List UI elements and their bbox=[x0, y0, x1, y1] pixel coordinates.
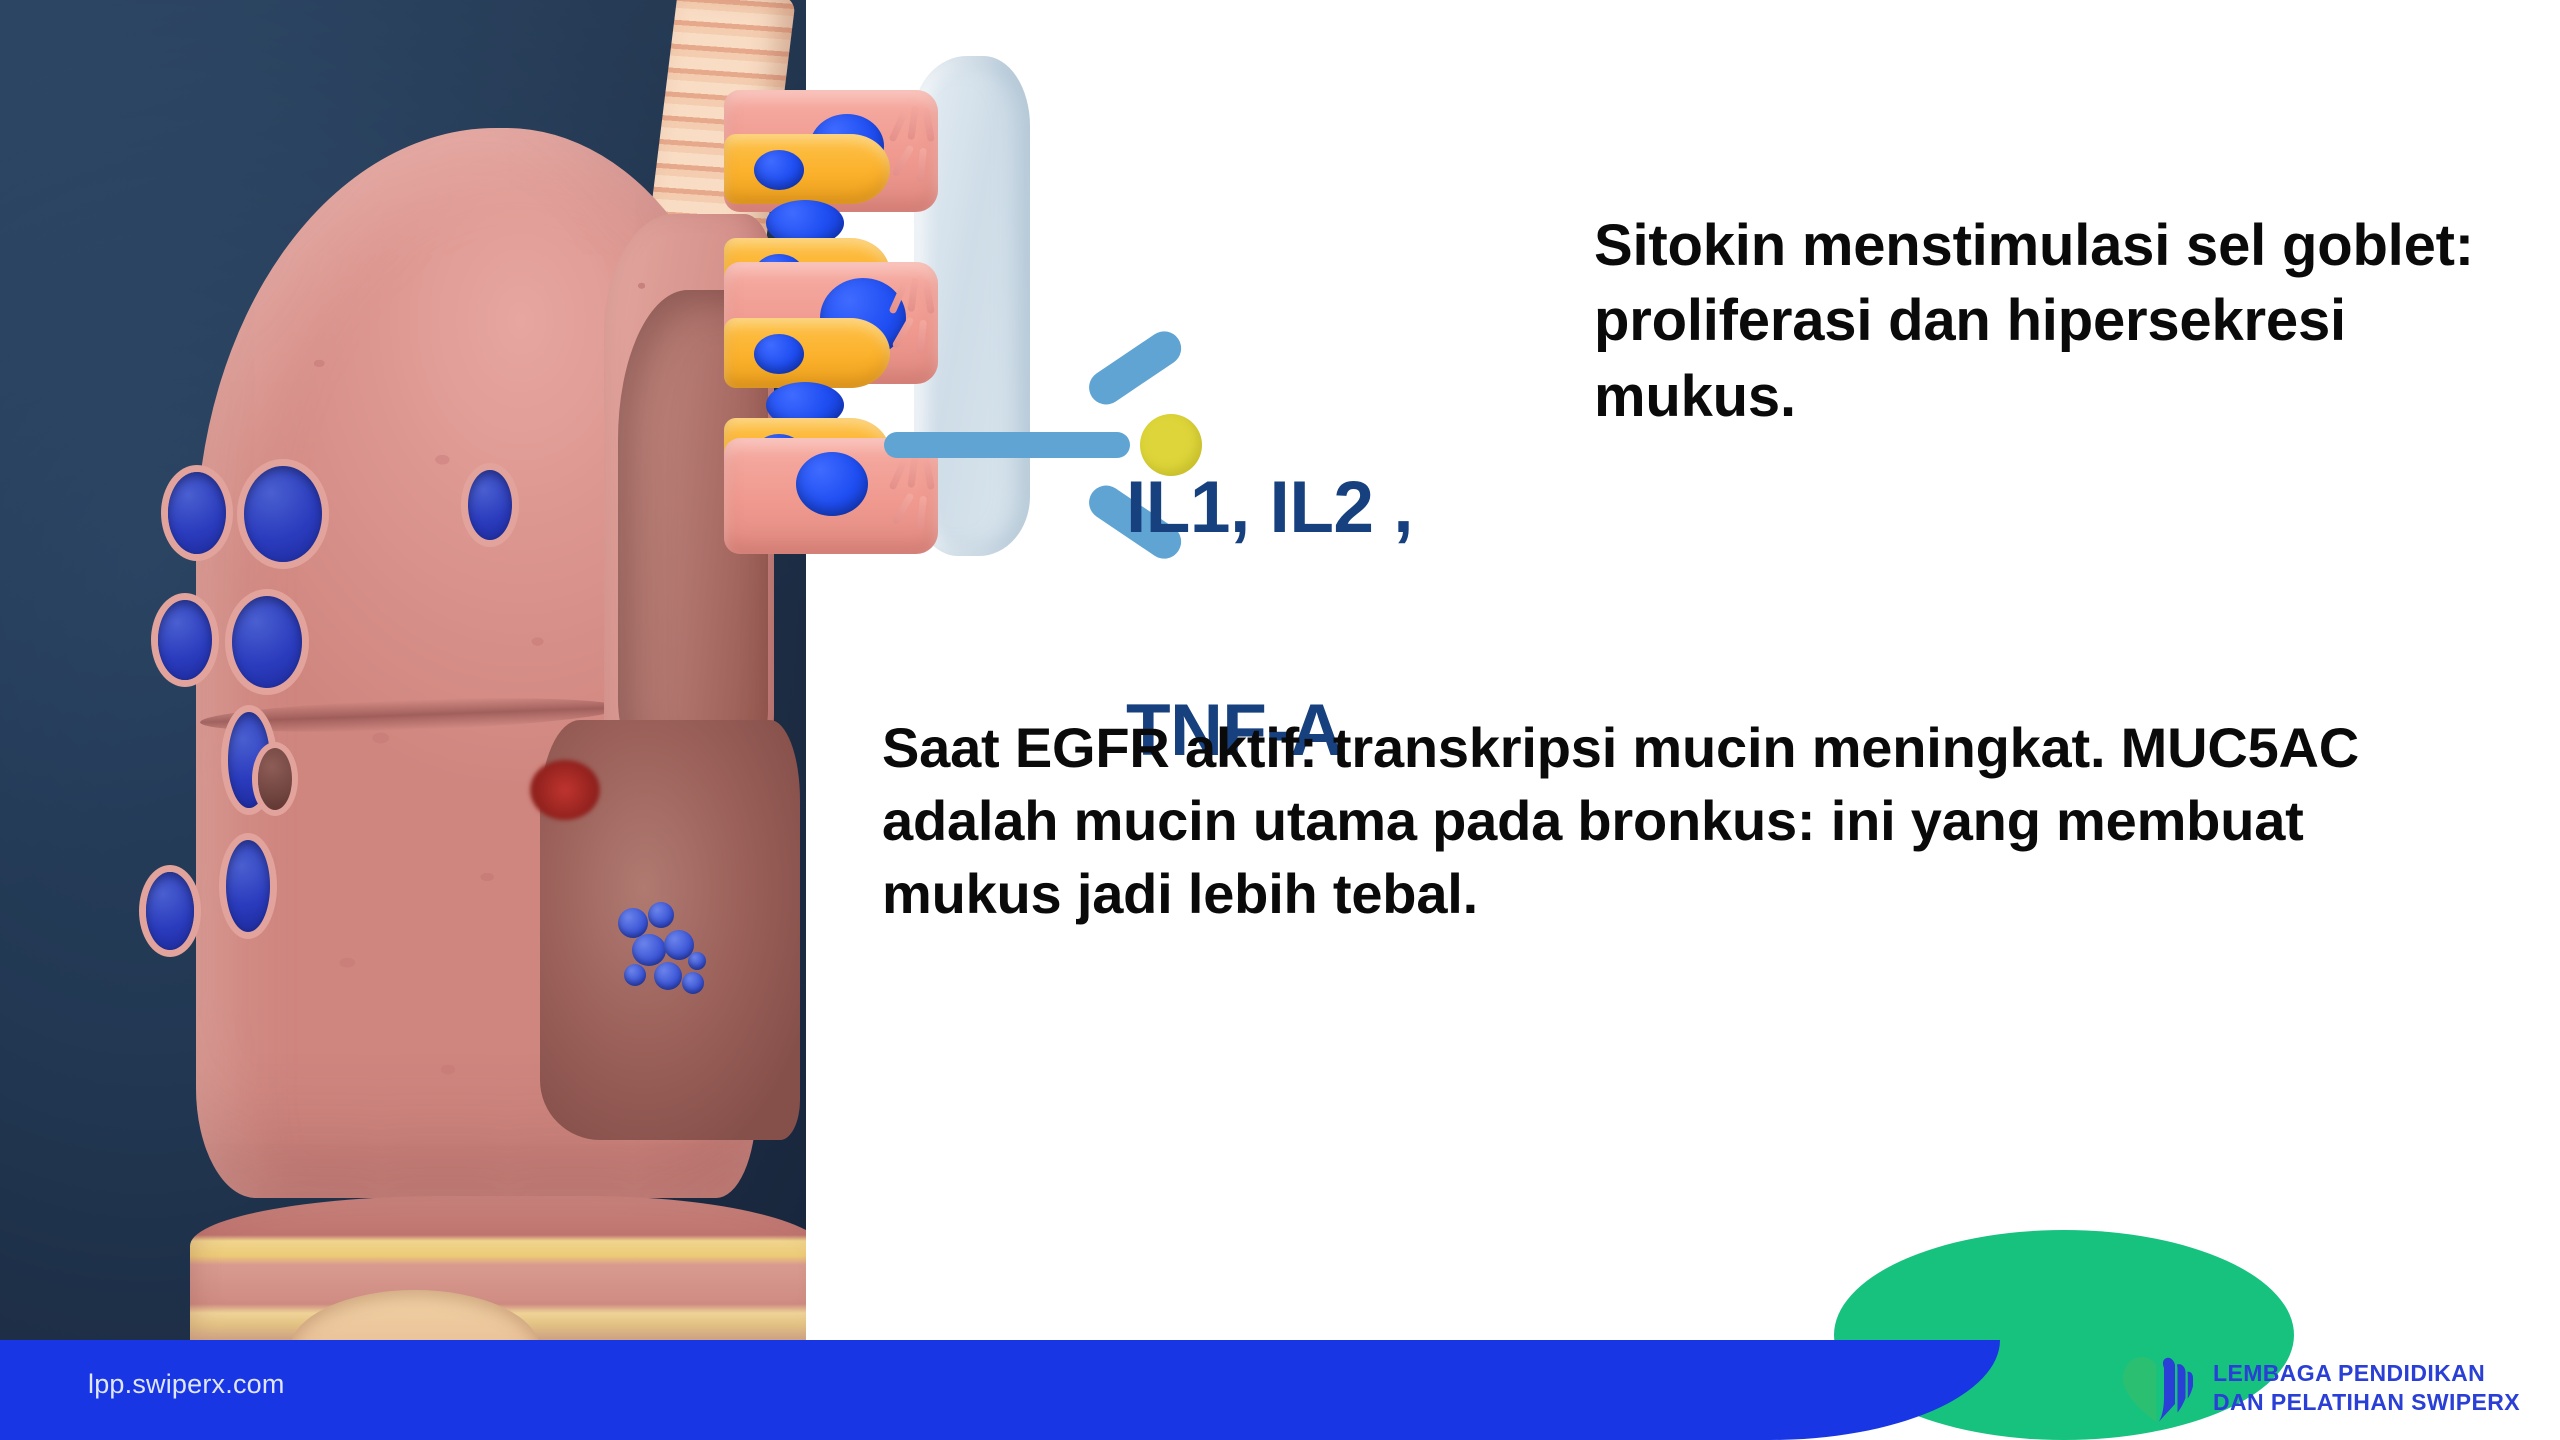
inflamed-tissue-patch bbox=[530, 760, 600, 820]
alveolar-opening bbox=[468, 470, 512, 540]
paragraph-bottom-text: Saat EGFR aktif: transkripsi mucin menin… bbox=[882, 712, 2442, 930]
bronchus-epithelium-illustration bbox=[0, 0, 806, 1340]
slide-root: IL1, IL2 , TNF-A Sitokin menstimulasi se… bbox=[0, 0, 2560, 1440]
alveolar-opening bbox=[232, 596, 302, 688]
cilia-tuft bbox=[900, 278, 942, 368]
cytokine-label-line-1: IL1, IL2 , bbox=[1126, 471, 1413, 545]
logo-line-2: DAN PELATIHAN SWIPERX bbox=[2213, 1388, 2520, 1417]
ciliated-cell bbox=[724, 318, 890, 388]
alveolar-opening bbox=[158, 600, 212, 680]
logo-line-1: LEMBAGA PENDIDIKAN bbox=[2213, 1359, 2520, 1388]
receptor-stem bbox=[884, 432, 1130, 458]
swiperx-logo[interactable]: LEMBAGA PENDIDIKAN DAN PELATIHAN SWIPERX bbox=[2119, 1352, 2520, 1424]
paragraph-top-text: Sitokin menstimulasi sel goblet: prolife… bbox=[1594, 208, 2524, 434]
cell-nucleus bbox=[796, 452, 868, 516]
cilia-tuft bbox=[900, 106, 942, 196]
alveolar-opening bbox=[168, 472, 226, 554]
logo-wordmark: LEMBAGA PENDIDIKAN DAN PELATIHAN SWIPERX bbox=[2213, 1359, 2520, 1416]
heart-logo-icon bbox=[2119, 1352, 2195, 1424]
ciliated-cell bbox=[724, 134, 890, 204]
paragraph-bottom: Saat EGFR aktif: transkripsi mucin menin… bbox=[882, 712, 2442, 930]
footer-site-url[interactable]: lpp.swiperx.com bbox=[88, 1369, 285, 1400]
paragraph-top: Sitokin menstimulasi sel goblet: prolife… bbox=[1594, 208, 2524, 434]
alveolar-opening bbox=[258, 748, 292, 810]
cilia-tuft bbox=[900, 454, 942, 544]
alveolar-opening bbox=[226, 840, 270, 932]
immune-cell-cluster bbox=[608, 900, 718, 1020]
cell-nucleus bbox=[754, 150, 804, 190]
alveolar-opening bbox=[146, 872, 194, 950]
alveolar-opening bbox=[244, 466, 322, 562]
footer-bar: lpp.swiperx.com LEMBAGA PENDIDIKAN DAN P… bbox=[0, 1340, 2560, 1440]
cell-nucleus bbox=[754, 334, 804, 374]
footer-blue-bar bbox=[0, 1340, 2000, 1440]
